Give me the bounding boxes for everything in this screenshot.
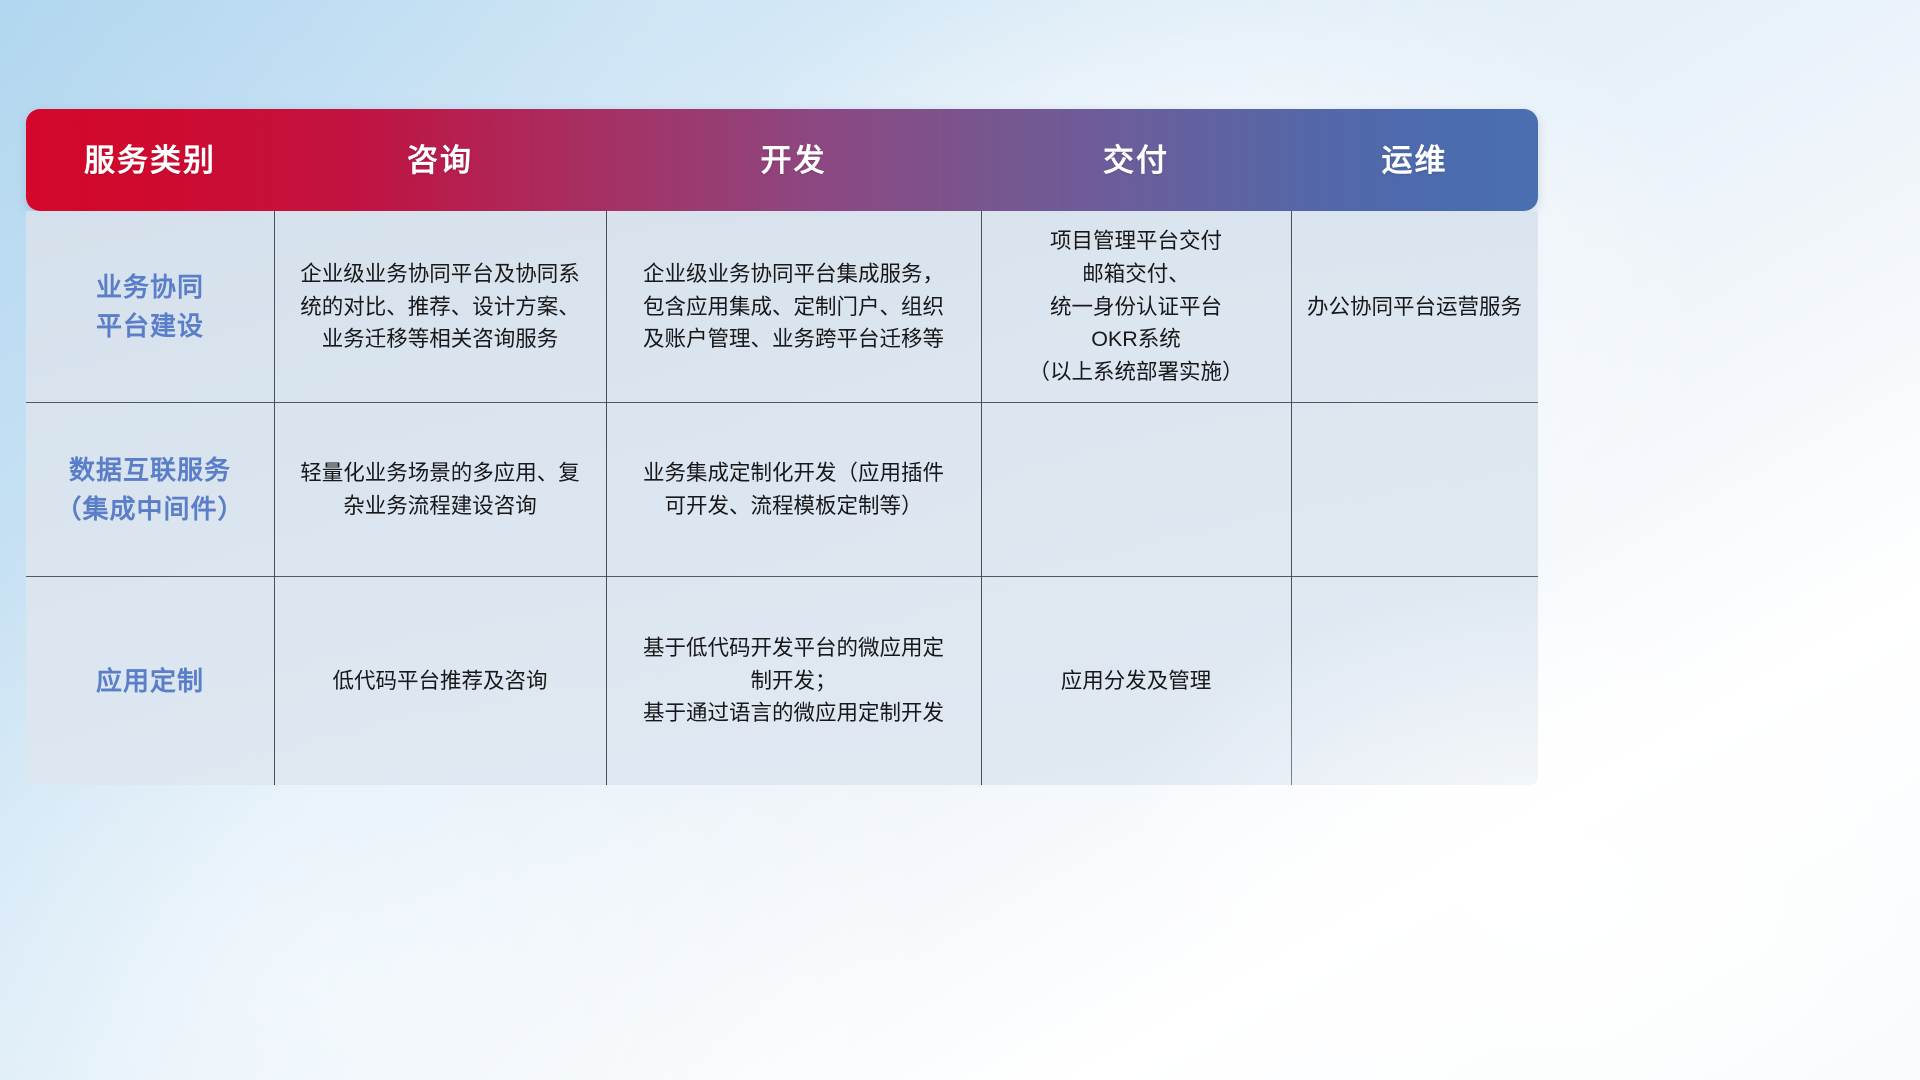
cell-r2-development: 业务集成定制化开发（应用插件 可开发、流程模板定制等） xyxy=(606,457,981,522)
cell-r1-operations: 办公协同平台运营服务 xyxy=(1291,291,1538,324)
cell-r1-development: 企业级业务协同平台集成服务， 包含应用集成、定制门户、组织 及账户管理、业务跨平… xyxy=(606,258,981,356)
table-header-row: 服务类别 咨询 开发 交付 运维 xyxy=(26,109,1538,211)
cell-r1-delivery: 项目管理平台交付 邮箱交付、 统一身份认证平台 OKR系统 （以上系统部署实施） xyxy=(981,225,1291,388)
slide-canvas: 服务类别 咨询 开发 交付 运维 业务协同 平台建设 企业级业务协同平台及协同系… xyxy=(0,0,1920,1080)
cell-r3-development: 基于低代码开发平台的微应用定 制开发； 基于通过语言的微应用定制开发 xyxy=(606,632,981,730)
table-row: 业务协同 平台建设 企业级业务协同平台及协同系 统的对比、推荐、设计方案、 业务… xyxy=(26,211,1538,403)
cell-r1-consulting: 企业级业务协同平台及协同系 统的对比、推荐、设计方案、 业务迁移等相关咨询服务 xyxy=(274,258,606,356)
row-label-data-interconnect: 数据互联服务 （集成中间件） xyxy=(26,451,274,529)
cell-r2-consulting: 轻量化业务场景的多应用、复 杂业务流程建设咨询 xyxy=(274,457,606,522)
column-header-development: 开发 xyxy=(606,145,981,176)
column-header-delivery: 交付 xyxy=(981,145,1291,176)
column-header-category: 服务类别 xyxy=(26,145,274,176)
service-matrix-table: 服务类别 咨询 开发 交付 运维 业务协同 平台建设 企业级业务协同平台及协同系… xyxy=(26,109,1538,789)
row-label-app-customization: 应用定制 xyxy=(26,662,274,701)
row-label-business-collaboration: 业务协同 平台建设 xyxy=(26,268,274,346)
table-row: 数据互联服务 （集成中间件） 轻量化业务场景的多应用、复 杂业务流程建设咨询 业… xyxy=(26,403,1538,577)
column-header-operations: 运维 xyxy=(1291,145,1538,176)
table-body: 业务协同 平台建设 企业级业务协同平台及协同系 统的对比、推荐、设计方案、 业务… xyxy=(26,211,1538,785)
cell-r3-delivery: 应用分发及管理 xyxy=(981,665,1291,698)
cell-r3-consulting: 低代码平台推荐及咨询 xyxy=(274,665,606,698)
column-header-consulting: 咨询 xyxy=(274,145,606,176)
table-row: 应用定制 低代码平台推荐及咨询 基于低代码开发平台的微应用定 制开发； 基于通过… xyxy=(26,577,1538,785)
